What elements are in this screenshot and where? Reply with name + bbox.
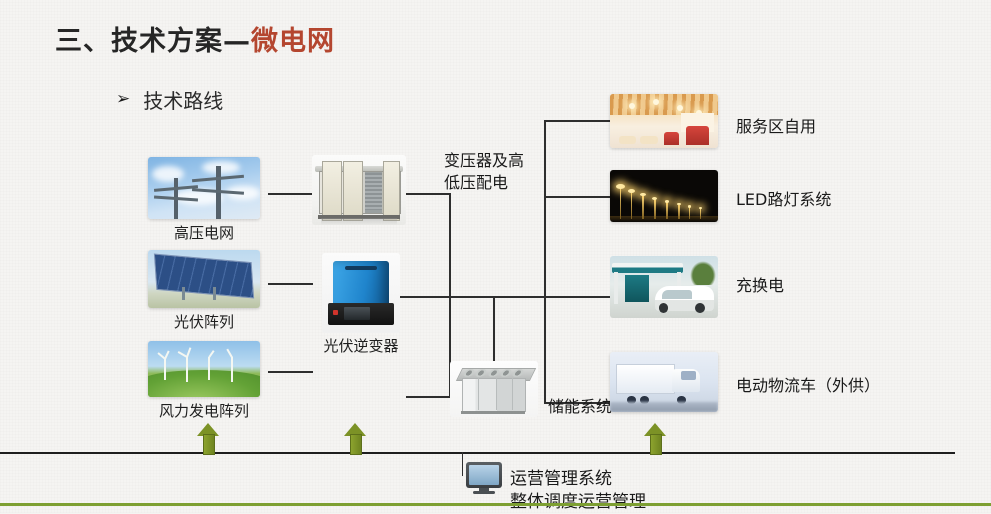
link-pv-to-inverter: [268, 283, 313, 285]
node-pv-array[interactable]: 光伏阵列: [148, 250, 260, 332]
node-transformer[interactable]: [312, 155, 406, 225]
hv-grid-image: [148, 157, 260, 219]
control-bus-line: [0, 452, 955, 454]
service-area-label: 服务区自用: [736, 113, 816, 137]
footer-accent-bar: [0, 503, 991, 506]
slide-canvas: 三、技术方案—微电网 ➢ 技术路线 高压电网: [0, 0, 991, 513]
node-storage[interactable]: [450, 361, 538, 417]
led-lights-image: [610, 170, 718, 222]
subtitle: ➢ 技术路线: [116, 85, 223, 114]
hv-grid-label: 高压电网: [148, 222, 260, 243]
transformer-image: [312, 155, 406, 225]
link-bus-to-operations: [462, 452, 463, 476]
operations-label: 运营管理系统 整体调度运营管理: [510, 468, 646, 514]
storage-image: [450, 361, 538, 417]
node-logistics[interactable]: [610, 352, 718, 412]
page-title: 三、技术方案—微电网: [55, 19, 335, 58]
charge-swap-image: [610, 256, 718, 318]
transformer-label-line2: 低压配电: [444, 172, 524, 194]
node-service-area[interactable]: [610, 94, 718, 148]
transformer-label-line1: 变压器及高: [444, 150, 524, 172]
wind-array-image: [148, 341, 260, 397]
link-mid-horizontal: [449, 296, 545, 298]
logistics-image: [610, 352, 718, 412]
control-arrow-2: [344, 423, 366, 453]
node-led-lights[interactable]: [610, 170, 718, 222]
page-title-accent: 微电网: [251, 26, 335, 57]
inverter-image: [322, 253, 400, 333]
arrow-bullet-icon: ➢: [116, 91, 130, 108]
link-grid-to-transformer: [268, 193, 313, 195]
pv-array-image: [148, 250, 260, 308]
link-wind-to-bus: [268, 371, 313, 373]
storage-label: 储能系统: [548, 393, 612, 417]
bus-right-vertical: [544, 120, 546, 403]
logistics-label: 电动物流车（外供）: [736, 372, 880, 396]
link-storage-left: [406, 396, 450, 398]
link-to-service-area: [544, 120, 610, 122]
wind-array-label: 风力发电阵列: [148, 400, 260, 421]
link-transformer-right: [406, 193, 451, 195]
led-lights-label: LED路灯系统: [736, 186, 831, 210]
pv-array-label: 光伏阵列: [148, 311, 260, 332]
node-hv-grid[interactable]: 高压电网: [148, 157, 260, 243]
control-arrow-3: [644, 423, 666, 453]
charge-swap-label: 充换电: [736, 272, 784, 296]
link-inverter-right: [400, 296, 450, 298]
operations-label-line1: 运营管理系统: [510, 468, 646, 491]
control-arrow-1: [197, 423, 219, 453]
page-title-main: 三、技术方案—: [55, 26, 251, 57]
link-to-storage: [493, 296, 495, 364]
node-inverter[interactable]: 光伏逆变器: [322, 253, 400, 356]
node-wind-array[interactable]: 风力发电阵列: [148, 341, 260, 421]
node-charge-swap[interactable]: [610, 256, 718, 318]
transformer-label: 变压器及高 低压配电: [444, 150, 524, 193]
link-to-led-lights: [544, 196, 610, 198]
monitor-icon: [466, 462, 502, 494]
service-area-image: [610, 94, 718, 148]
inverter-label: 光伏逆变器: [322, 335, 400, 356]
link-to-charge-swap: [544, 296, 610, 298]
subtitle-label: 技术路线: [143, 85, 223, 114]
